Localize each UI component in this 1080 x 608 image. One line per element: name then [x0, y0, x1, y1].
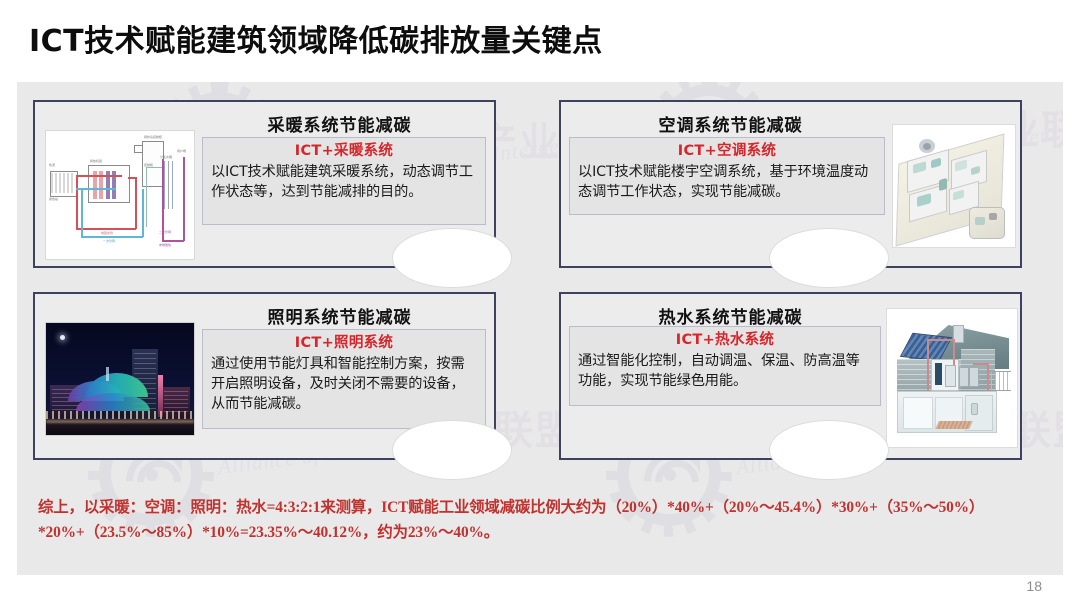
- body-hotwater: 通过智能化控制，自动调温、保温、防高温等功能，实现节能绿色用能。: [578, 351, 872, 391]
- textbox-hotwater: ICT+热水系统 通过智能化控制，自动调温、保温、防高温等功能，实现节能绿色用能…: [569, 326, 881, 406]
- page-number: 18: [1026, 578, 1042, 594]
- tag-heating: ICT+采暖系统: [211, 142, 477, 162]
- body-heating: 以ICT技术赋能建筑采暖系统，动态调节工作状态等，达到节能减排的目的。: [211, 162, 477, 202]
- decorative-ellipse-heating: [392, 228, 512, 288]
- page-title: ICT技术赋能建筑领域降低碳排放量关键点: [29, 16, 603, 60]
- decorative-ellipse-hotwater: [769, 420, 889, 480]
- 3d-floorplan-image: [892, 124, 1016, 248]
- body-hvac: 以ICT技术赋能楼宇空调系统，基于环境温度动态调节工作状态，实现节能减碳。: [578, 162, 876, 202]
- decorative-ellipse-hvac: [769, 228, 889, 288]
- textbox-hvac: ICT+空调系统 以ICT技术赋能楼宇空调系统，基于环境温度动态调节工作状态，实…: [569, 137, 885, 215]
- night-city-lighting-photo: [45, 322, 195, 436]
- summary-text: 综上，以采暖：空调：照明：热水=4:3:2:1来测算，ICT赋能工业领域减碳比例…: [38, 496, 1038, 546]
- textbox-heating: ICT+采暖系统 以ICT技术赋能建筑采暖系统，动态调节工作状态等，达到节能减排…: [202, 137, 486, 225]
- decorative-ellipse-lighting: [392, 420, 512, 480]
- textbox-lighting: ICT+照明系统 通过使用节能灯具和智能控制方案，按需开启照明设备，及时关闭不需…: [202, 329, 486, 429]
- card-title-heating: 采暖系统节能减碳: [35, 111, 494, 136]
- tag-hvac: ICT+空调系统: [578, 142, 876, 162]
- body-lighting: 通过使用节能灯具和智能控制方案，按需开启照明设备，及时关闭不需要的设备，从而节能…: [211, 354, 477, 414]
- solar-hot-water-house-image: [886, 308, 1018, 448]
- tag-hotwater: ICT+热水系统: [578, 331, 872, 351]
- tag-lighting: ICT+照明系统: [211, 334, 477, 354]
- heating-system-schematic-image: 热源 换热站 换热机组 锅炉房控制柜 控制柜 分集水器 用户: [45, 130, 195, 260]
- card-title-lighting: 照明系统节能减碳: [35, 303, 494, 328]
